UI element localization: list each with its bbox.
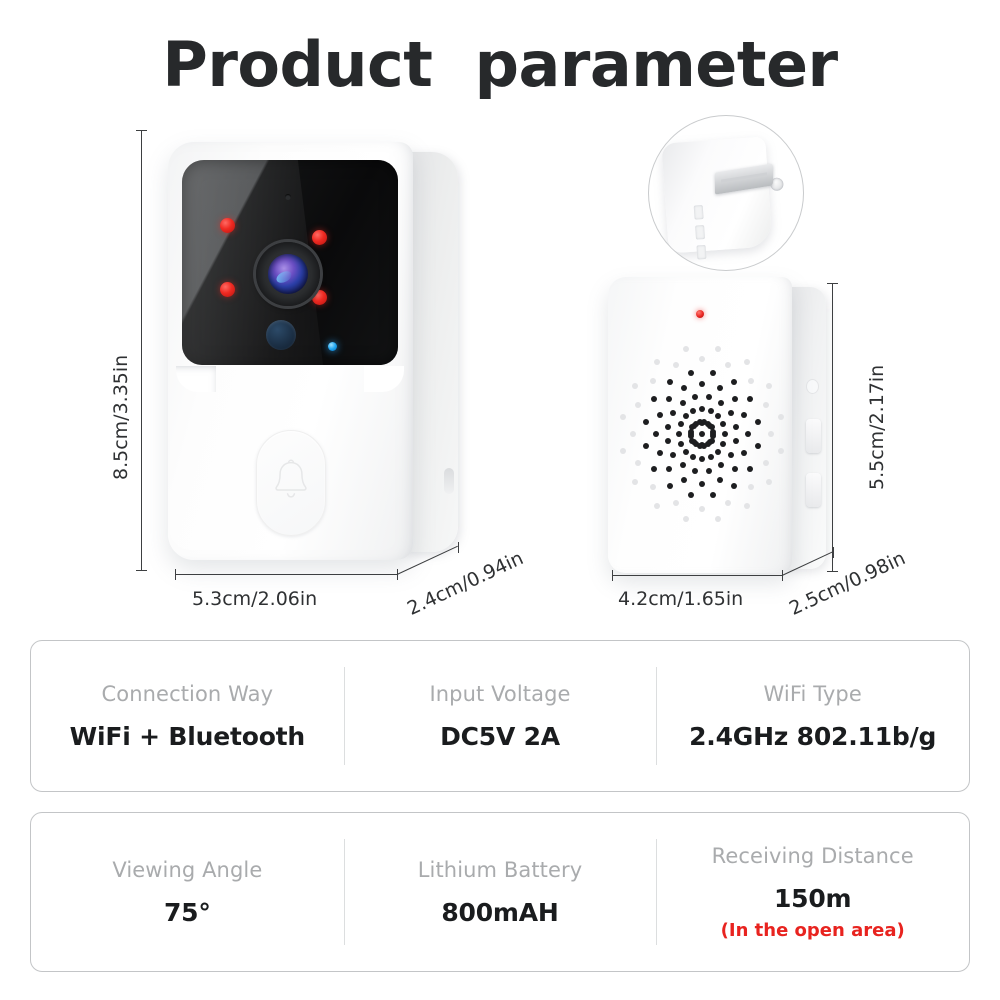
speaker-grille-dot — [691, 423, 697, 429]
speaker-grille-dot — [699, 356, 705, 362]
spec-value: DC5V 2A — [440, 722, 560, 751]
spec-label: Receiving Distance — [712, 844, 914, 868]
doorbell-width-dimension-line — [175, 574, 397, 575]
ac-plug-detail-inset — [648, 115, 804, 271]
blue-status-led-icon — [328, 342, 337, 351]
speaker-grille-dot — [720, 441, 726, 447]
microphone-hole-icon — [285, 194, 291, 200]
speaker-grille-dot — [692, 468, 698, 474]
speaker-grille-dot — [676, 431, 682, 437]
speaker-grille-dot — [717, 385, 723, 391]
speaker-grille-dot — [747, 466, 753, 472]
speaker-grille-dot — [741, 450, 747, 456]
speaker-grille-dot — [690, 454, 696, 460]
speaker-grille-dot — [699, 406, 705, 412]
speaker-grille-dot — [688, 370, 694, 376]
speaker-grille-dot — [766, 383, 772, 389]
speaker-grille-icon — [622, 339, 782, 529]
plug-side-tab — [695, 225, 705, 240]
dimension-cap — [612, 570, 613, 581]
dimension-cap — [827, 571, 838, 572]
chime-body — [608, 277, 792, 573]
speaker-grille-dot — [654, 503, 660, 509]
spec-cell-receiving-distance: Receiving Distance 150m (In the open are… — [656, 813, 969, 971]
speaker-grille-dot — [732, 466, 738, 472]
speaker-grille-dot — [654, 359, 660, 365]
infrared-led-icon — [312, 230, 327, 245]
speaker-grille-dot — [744, 503, 750, 509]
speaker-grille-dot — [683, 346, 689, 352]
speaker-grille-dot — [673, 500, 679, 506]
speaker-grille-dot — [699, 431, 705, 437]
speaker-grille-dot — [650, 378, 656, 384]
speaker-grille-dot — [748, 378, 754, 384]
doorbell-height-dimension-line — [141, 130, 142, 570]
speaker-grille-dot — [699, 481, 705, 487]
speaker-grille-dot — [706, 468, 712, 474]
spec-cell-wifi-type: WiFi Type 2.4GHz 802.11b/g — [656, 641, 969, 791]
speaker-grille-dot — [670, 452, 676, 458]
speaker-grille-dot — [778, 414, 784, 420]
speaker-grille-dot — [651, 396, 657, 402]
doorbell-shoulder-left — [176, 366, 216, 392]
speaker-grille-dot — [653, 431, 659, 437]
spec-label: Viewing Angle — [112, 858, 262, 882]
speaker-grille-dot — [630, 431, 636, 437]
spec-label: Lithium Battery — [418, 858, 583, 882]
speaker-grille-dot — [688, 492, 694, 498]
dimension-cap — [458, 542, 459, 553]
spec-value: 75° — [164, 898, 211, 927]
bell-icon — [269, 456, 313, 507]
speaker-grille-dot — [708, 454, 714, 460]
speaker-grille-dot — [715, 449, 721, 455]
doorbell-body — [168, 142, 413, 560]
speaker-grille-dot — [725, 362, 731, 368]
speaker-grille-dot — [683, 516, 689, 522]
spec-note: (In the open area) — [721, 920, 905, 941]
speaker-grille-dot — [707, 439, 713, 445]
speaker-grille-dot — [768, 431, 774, 437]
speaker-grille-dot — [699, 506, 705, 512]
dimension-cap — [175, 569, 176, 580]
spec-row: Connection Way WiFi + Bluetooth Input Vo… — [31, 641, 969, 791]
speaker-grille-dot — [666, 396, 672, 402]
chime-volume-knob[interactable] — [806, 379, 819, 394]
plug-back-housing — [661, 137, 772, 254]
speaker-grille-dot — [632, 383, 638, 389]
speaker-grille-dot — [708, 408, 714, 414]
speaker-grille-dot — [720, 421, 726, 427]
speaker-grille-dot — [666, 466, 672, 472]
speaker-grille-dot — [690, 408, 696, 414]
speaker-grille-dot — [680, 462, 686, 468]
speaker-grille-dot — [728, 452, 734, 458]
plug-side-tab — [696, 245, 706, 260]
speaker-grille-dot — [733, 438, 739, 444]
pir-sensor-icon — [266, 320, 296, 350]
speaker-grille-dot — [635, 402, 641, 408]
plug-side-tab — [694, 205, 704, 220]
infrared-led-icon — [220, 218, 235, 233]
wireless-chime-illustration — [608, 277, 826, 577]
video-doorbell-illustration — [168, 130, 458, 570]
speaker-grille-dot — [778, 448, 784, 454]
speaker-grille-dot — [755, 443, 761, 449]
speaker-grille-dot — [715, 516, 721, 522]
red-status-led-icon — [696, 310, 704, 318]
speaker-grille-dot — [747, 396, 753, 402]
spec-cell-viewing-angle: Viewing Angle 75° — [31, 813, 344, 971]
spec-value: 800mAH — [441, 898, 558, 927]
speaker-grille-dot — [681, 477, 687, 483]
speaker-grille-dot — [744, 359, 750, 365]
speaker-grille-dot — [691, 439, 697, 445]
speaker-grille-dot — [725, 500, 731, 506]
speaker-grille-dot — [741, 412, 747, 418]
speaker-grille-dot — [683, 413, 689, 419]
infrared-led-icon — [220, 282, 235, 297]
spec-label: Input Voltage — [429, 682, 570, 706]
doorbell-height-label: 8.5cm/3.35in — [110, 355, 132, 480]
speaker-grille-dot — [643, 419, 649, 425]
speaker-grille-dot — [667, 379, 673, 385]
speaker-grille-dot — [755, 419, 761, 425]
speaker-grille-dot — [710, 492, 716, 498]
speaker-grille-dot — [731, 483, 737, 489]
speaker-grille-dot — [707, 423, 713, 429]
speaker-grille-dot — [632, 479, 638, 485]
chime-width-label: 4.2cm/1.65in — [618, 588, 743, 610]
dimension-cap — [136, 570, 147, 571]
page-title: Product parameter — [0, 28, 1000, 101]
speaker-grille-dot — [681, 385, 687, 391]
speaker-grille-dot — [733, 424, 739, 430]
speaker-grille-dot — [657, 450, 663, 456]
speaker-grille-dot — [731, 379, 737, 385]
speaker-grille-dot — [710, 431, 716, 437]
spec-panel-row-2: Viewing Angle 75° Lithium Battery 800mAH… — [30, 812, 970, 972]
product-illustration-stage: 8.5cm/3.35in 5.3cm/2.06in 2.4cm/0.94in 5… — [0, 105, 1000, 625]
speaker-grille-dot — [718, 462, 724, 468]
camera-lens-icon — [256, 242, 320, 306]
speaker-grille-dot — [670, 410, 676, 416]
speaker-grille-dot — [678, 441, 684, 447]
speaker-grille-dot — [745, 431, 751, 437]
speaker-grille-dot — [635, 460, 641, 466]
speaker-grille-dot — [643, 443, 649, 449]
speaker-grille-dot — [683, 449, 689, 455]
chime-side-button-1[interactable] — [806, 419, 821, 453]
speaker-grille-dot — [710, 370, 716, 376]
dimension-cap — [827, 283, 838, 284]
spec-value: 150m — [774, 884, 851, 913]
speaker-grille-dot — [766, 479, 772, 485]
speaker-grille-dot — [699, 456, 705, 462]
doorbell-width-label: 5.3cm/2.06in — [192, 588, 317, 610]
speaker-grille-dot — [718, 400, 724, 406]
spec-cell-connection-way: Connection Way WiFi + Bluetooth — [31, 641, 344, 791]
speaker-grille-dot — [732, 396, 738, 402]
speaker-grille-dot — [715, 413, 721, 419]
speaker-grille-dot — [678, 421, 684, 427]
speaker-grille-dot — [717, 477, 723, 483]
spec-label: Connection Way — [102, 682, 274, 706]
speaker-grille-dot — [692, 394, 698, 400]
speaker-grille-dot — [620, 414, 626, 420]
speaker-grille-dot — [722, 431, 728, 437]
speaker-grille-dot — [688, 431, 694, 437]
speaker-grille-dot — [650, 484, 656, 490]
speaker-grille-dot — [699, 420, 705, 426]
doorbell-shoulder-right — [364, 366, 404, 392]
dimension-cap — [136, 130, 147, 131]
speaker-grille-dot — [665, 438, 671, 444]
speaker-grille-dot — [715, 346, 721, 352]
speaker-grille-dot — [651, 466, 657, 472]
product-parameter-infographic: Product parameter — [0, 0, 1000, 1000]
speaker-grille-dot — [706, 394, 712, 400]
speaker-grille-dot — [620, 448, 626, 454]
spec-label: WiFi Type — [764, 682, 862, 706]
spec-value: WiFi + Bluetooth — [70, 722, 305, 751]
speaker-grille-dot — [699, 442, 705, 448]
chime-width-dimension-line — [612, 575, 782, 576]
speaker-grille-dot — [680, 400, 686, 406]
speaker-grille-dot — [763, 402, 769, 408]
speaker-grille-dot — [673, 362, 679, 368]
chime-height-dimension-line — [832, 283, 833, 571]
spec-cell-input-voltage: Input Voltage DC5V 2A — [344, 641, 657, 791]
speaker-grille-dot — [728, 410, 734, 416]
dimension-cap — [833, 547, 834, 558]
speaker-grille-dot — [667, 483, 673, 489]
chime-side-button-2[interactable] — [806, 473, 821, 507]
speaker-grille-dot — [665, 424, 671, 430]
doorbell-push-button[interactable] — [256, 430, 326, 536]
speaker-grille-dot — [748, 484, 754, 490]
spec-panel-row-1: Connection Way WiFi + Bluetooth Input Vo… — [30, 640, 970, 792]
doorbell-camera-panel — [182, 160, 398, 365]
speaker-grille-dot — [763, 460, 769, 466]
speaker-grille-dot — [699, 381, 705, 387]
speaker-grille-dot — [657, 412, 663, 418]
chime-height-label: 5.5cm/2.17in — [866, 365, 888, 490]
spec-row: Viewing Angle 75° Lithium Battery 800mAH… — [31, 813, 969, 971]
spec-value: 2.4GHz 802.11b/g — [689, 722, 936, 751]
spec-cell-lithium-battery: Lithium Battery 800mAH — [344, 813, 657, 971]
